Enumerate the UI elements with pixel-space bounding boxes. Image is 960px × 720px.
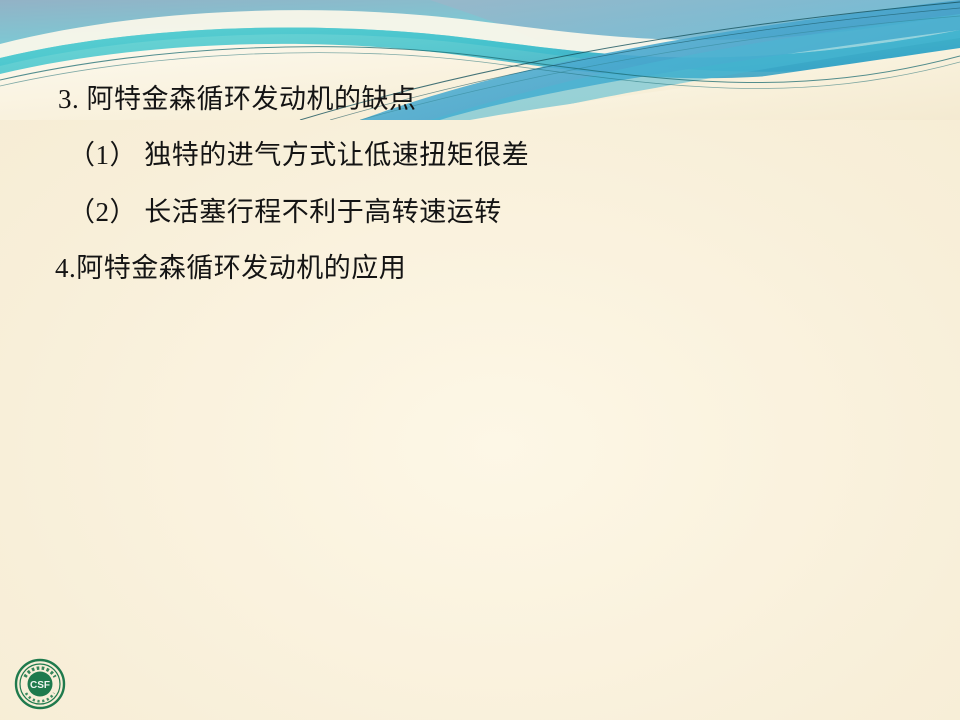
presentation-slide: 3. 阿特金森循环发动机的缺点 （1） 独特的进气方式让低速扭矩很差 （2） 长…: [0, 0, 960, 720]
slide-bullet-1: （1） 独特的进气方式让低速扭矩很差: [68, 138, 960, 172]
footer-logo-text: CSF: [30, 680, 50, 691]
slide-heading-4: 4.阿特金森循环发动机的应用: [55, 251, 960, 285]
footer-logo: CSF: [14, 658, 66, 710]
slide-body-text: 3. 阿特金森循环发动机的缺点 （1） 独特的进气方式让低速扭矩很差 （2） 长…: [0, 78, 960, 285]
slide-bullet-2: （2） 长活塞行程不利于高转速运转: [68, 195, 960, 229]
slide-heading-3: 3. 阿特金森循环发动机的缺点: [58, 82, 960, 116]
